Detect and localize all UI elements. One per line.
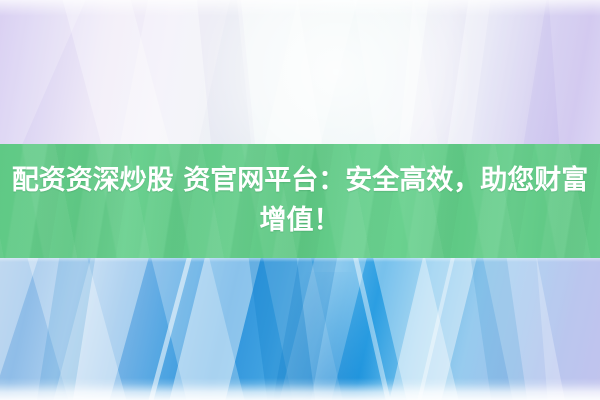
headline-text: 配资资深炒股 资官网平台：安全高效，助您财富增值！	[6, 161, 594, 241]
bottom-edge-fade	[0, 378, 600, 400]
top-edge-fade	[0, 0, 600, 16]
bottom-decorative-panel	[0, 258, 600, 400]
top-decorative-panel	[0, 0, 600, 144]
promo-banner: 配资资深炒股 资官网平台：安全高效，助您财富增值！	[0, 0, 600, 400]
bottom-panel-top-highlight	[0, 258, 600, 262]
top-center-glow	[204, 0, 468, 144]
headline-container: 配资资深炒股 资官网平台：安全高效，助您财富增值！	[0, 144, 600, 258]
